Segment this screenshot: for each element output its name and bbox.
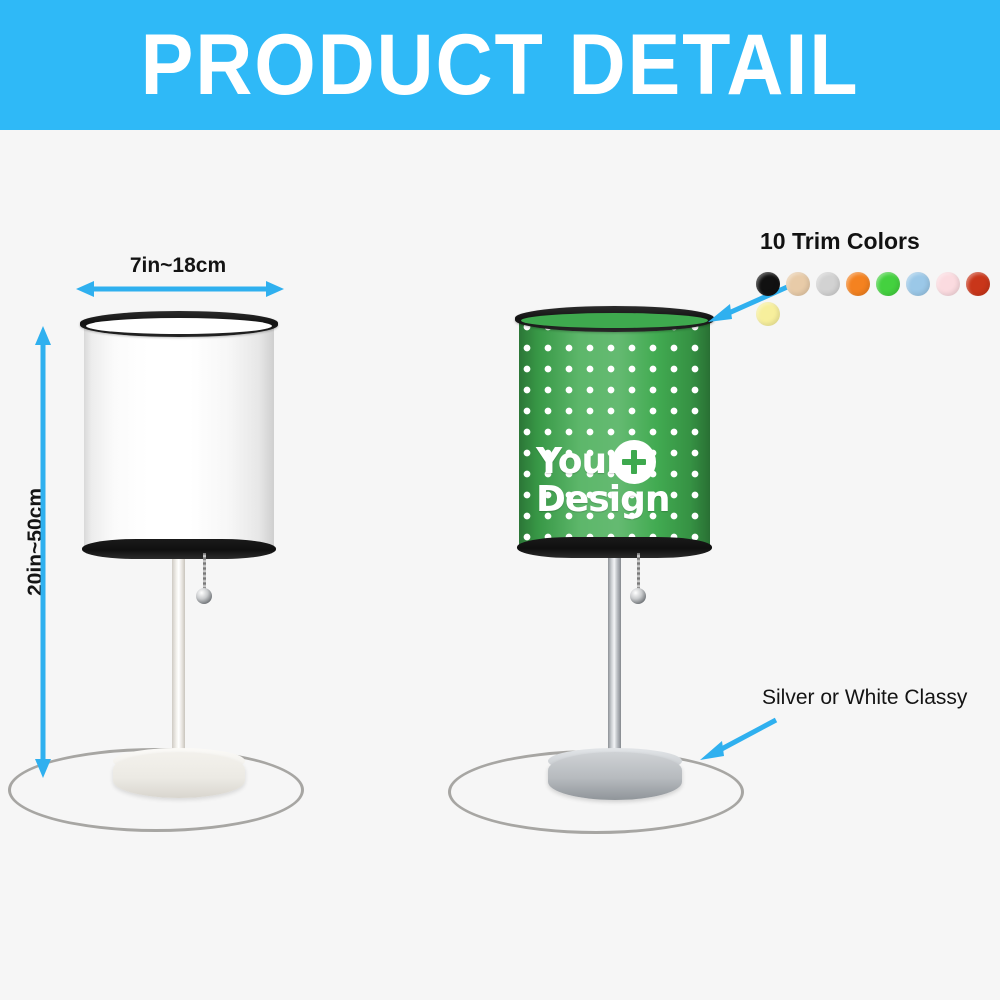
trim-swatch-pale-yellow[interactable] bbox=[756, 302, 780, 326]
product-detail-page: PRODUCT DETAIL 7in~18cm 20in~50cm bbox=[0, 0, 1000, 1000]
trim-swatch-light-blue[interactable] bbox=[906, 272, 930, 296]
trim-swatch-tan[interactable] bbox=[786, 272, 810, 296]
trim-color-swatches bbox=[756, 272, 1000, 326]
base-finish-label: Silver or White Classy bbox=[762, 686, 967, 710]
green-lamp-base bbox=[548, 752, 682, 800]
base-finish-callout-arrow bbox=[694, 712, 780, 764]
plus-icon bbox=[612, 440, 656, 484]
green-lamp-pole bbox=[608, 554, 621, 764]
trim-swatch-pink[interactable] bbox=[936, 272, 960, 296]
trim-swatch-dark-red[interactable] bbox=[966, 272, 990, 296]
green-lamp-shade-opening bbox=[521, 313, 708, 328]
green-lamp-figure: Your Design bbox=[0, 0, 1000, 1000]
trim-swatch-light-gray[interactable] bbox=[816, 272, 840, 296]
green-lamp-pull-chain[interactable] bbox=[637, 553, 640, 591]
green-lamp-pull-chain-ball[interactable] bbox=[630, 588, 646, 604]
green-lamp-bottom-trim bbox=[517, 537, 712, 558]
trim-swatch-black[interactable] bbox=[756, 272, 780, 296]
trim-swatch-orange[interactable] bbox=[846, 272, 870, 296]
design-line-2: Design bbox=[536, 482, 696, 518]
trim-swatch-green[interactable] bbox=[876, 272, 900, 296]
trim-colors-title: 10 Trim Colors bbox=[760, 228, 920, 255]
